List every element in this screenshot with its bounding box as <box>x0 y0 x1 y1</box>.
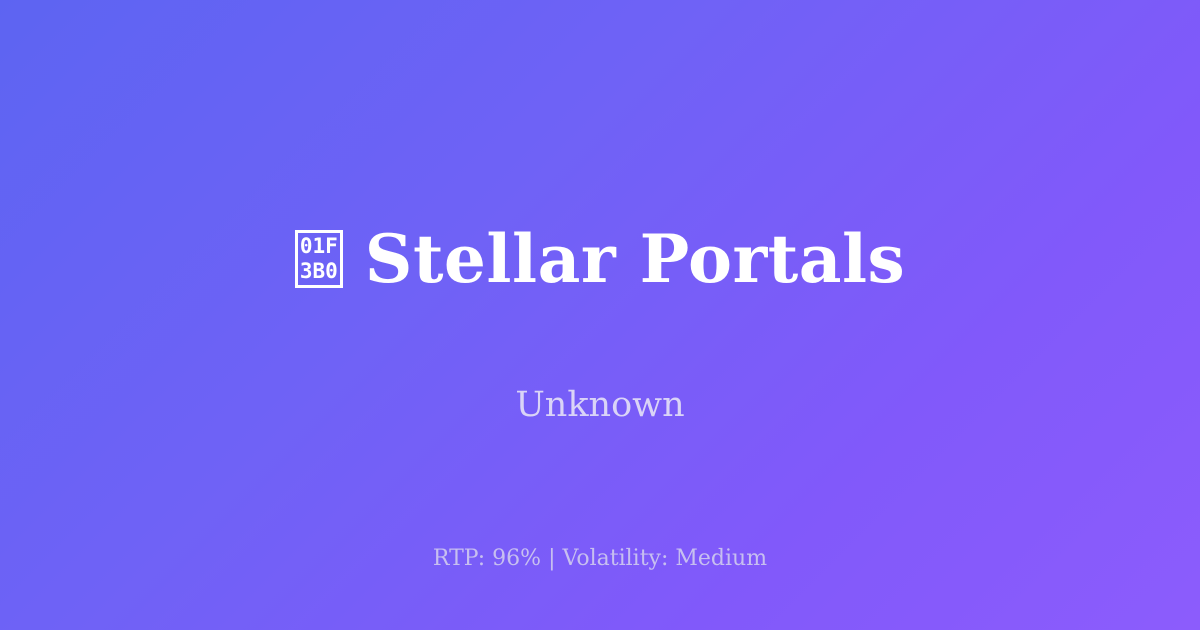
slot-machine-icon-codepoint-high: 01F <box>300 234 338 259</box>
hero-block: 01F 3B0 Stellar Portals Unknown <box>0 0 1200 630</box>
slot-machine-icon-codepoint-low: 3B0 <box>300 259 338 284</box>
title-row: 01F 3B0 Stellar Portals <box>295 181 905 335</box>
stats-footer: RTP: 96% | Volatility: Medium <box>0 548 1200 570</box>
game-preview-card: 01F 3B0 Stellar Portals Unknown RTP: 96%… <box>0 0 1200 630</box>
page-title: Stellar Portals <box>365 226 905 292</box>
slot-machine-icon: 01F 3B0 <box>295 230 343 288</box>
provider-subtitle: Unknown <box>515 388 684 423</box>
stats-text: RTP: 96% | Volatility: Medium <box>433 546 767 571</box>
